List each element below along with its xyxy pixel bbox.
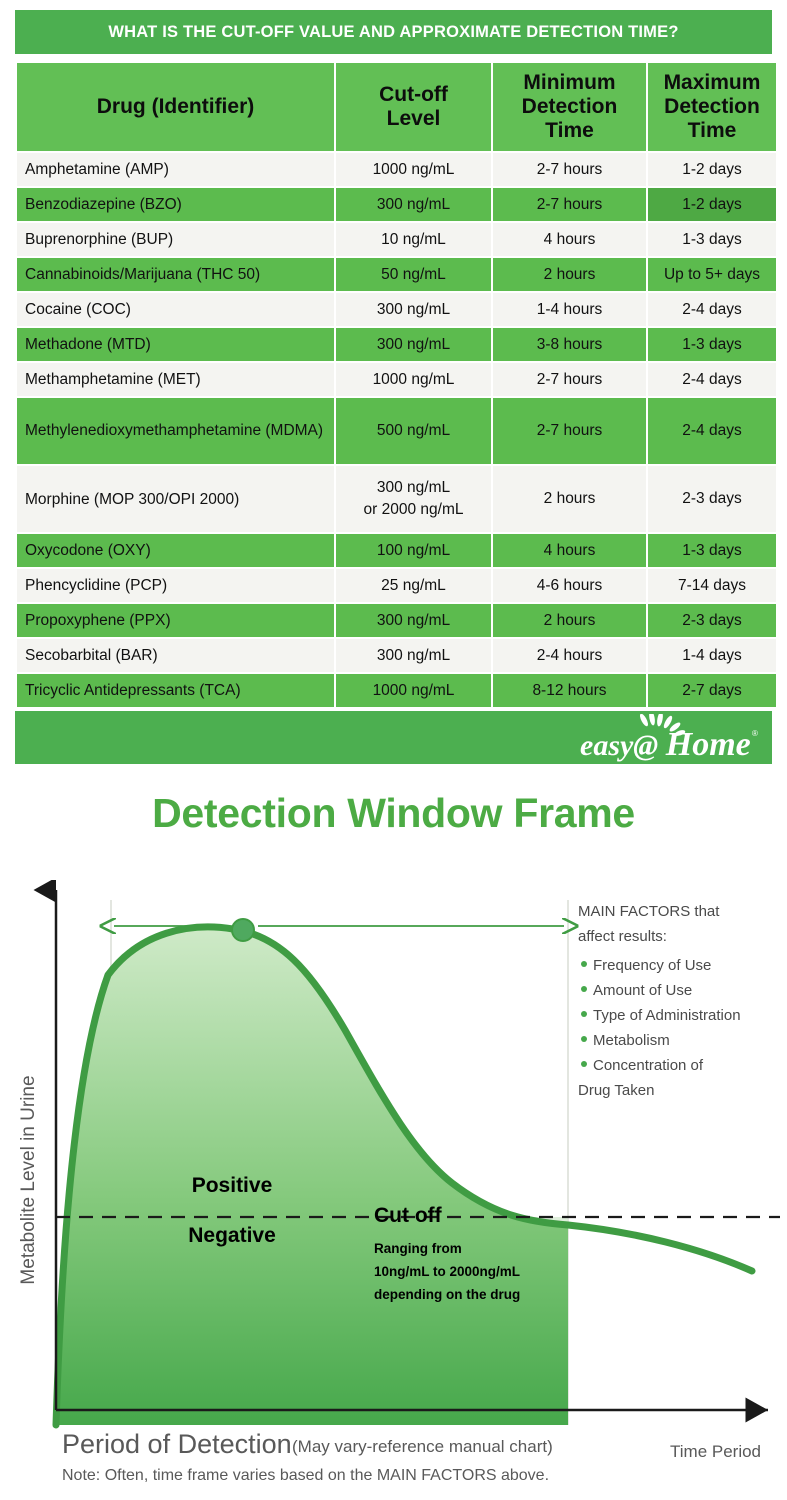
table-row: Oxycodone (OXY)100 ng/mL4 hours1-3 days [17,534,776,567]
cell-max-detection: 1-3 days [648,328,776,361]
table-row: Propoxyphene (PPX)300 ng/mL2 hours2-3 da… [17,604,776,637]
bullet-icon [581,1061,587,1067]
cell-min-detection: 2-4 hours [493,639,646,672]
cell-min-detection: 4-6 hours [493,569,646,602]
cutoff-detection-table: Drug (Identifier) Cut-off Level Minimum … [15,61,778,709]
cell-min-detection: 2-7 hours [493,363,646,396]
cell-drug: Benzodiazepine (BZO) [17,188,334,221]
cutoff-desc-line-2: 10ng/mL to 2000ng/mL [374,1264,520,1279]
cell-min-detection: 3-8 hours [493,328,646,361]
brand-wordmark: easy@ Home [580,726,751,762]
table-row: Benzodiazepine (BZO)300 ng/mL2-7 hours1-… [17,188,776,221]
main-factor-item: Frequency of Use [593,957,711,974]
cell-cutoff: 50 ng/mL [336,258,491,291]
column-header-max-detection: Maximum Detection Time [648,63,776,151]
table-row: Methylenedioxymethamphetamine (MDMA)500 … [17,398,776,464]
header-line: Level [387,107,441,130]
table-row: Buprenorphine (BUP)10 ng/mL4 hours1-3 da… [17,223,776,256]
header-line: Time [545,119,594,142]
main-factor-item: Metabolism [593,1032,670,1049]
cell-max-detection: 2-7 days [648,674,776,707]
cell-max-detection: 1-4 days [648,639,776,672]
cell-max-detection: 2-4 days [648,363,776,396]
cell-drug: Methadone (MTD) [17,328,334,361]
cell-cutoff: 1000 ng/mL [336,674,491,707]
cell-cutoff: 25 ng/mL [336,569,491,602]
x-axis-caption-main: Period of Detection [62,1429,292,1459]
cell-max-detection: Up to 5+ days [648,258,776,291]
table-row: Methamphetamine (MET)1000 ng/mL2-7 hours… [17,363,776,396]
cell-min-detection: 2-7 hours [493,398,646,464]
cell-cutoff: 300 ng/mL [336,604,491,637]
cell-cutoff-line: 300 ng/mL [377,479,450,496]
header-line: Maximum [664,71,761,94]
cell-drug: Methylenedioxymethamphetamine (MDMA) [17,398,334,464]
bullet-icon [581,1011,587,1017]
chart-title: Detection Window Frame [0,790,787,837]
column-header-min-detection: Minimum Detection Time [493,63,646,151]
cell-drug: Cocaine (COC) [17,293,334,326]
cell-max-detection: 2-4 days [648,398,776,464]
negative-region-label: Negative [188,1224,276,1247]
cell-cutoff: 300 ng/mL [336,639,491,672]
cell-cutoff: 500 ng/mL [336,398,491,464]
cell-min-detection: 1-4 hours [493,293,646,326]
cutoff-table-block: WHAT IS THE CUT-OFF VALUE AND APPROXIMAT… [15,10,772,764]
bullet-icon [581,961,587,967]
table-body: Amphetamine (AMP)1000 ng/mL2-7 hours1-2 … [17,153,776,707]
table-row: Phencyclidine (PCP)25 ng/mL4-6 hours7-14… [17,569,776,602]
main-factors-heading-line-1: MAIN FACTORS that [578,903,720,920]
table-row: Amphetamine (AMP)1000 ng/mL2-7 hours1-2 … [17,153,776,186]
table-row: Cannabinoids/Marijuana (THC 50)50 ng/mL2… [17,258,776,291]
main-factor-item: Concentration of [593,1057,704,1074]
cell-drug: Secobarbital (BAR) [17,639,334,672]
easy-at-home-logo: easy@ Home ® [580,714,760,762]
bullet-icon [581,1036,587,1042]
cell-cutoff: 300 ng/mL [336,328,491,361]
cell-drug: Oxycodone (OXY) [17,534,334,567]
cell-drug: Tricyclic Antidepressants (TCA) [17,674,334,707]
cutoff-desc-line-1: Ranging from [374,1241,462,1256]
cell-min-detection: 2 hours [493,466,646,532]
cell-drug: Cannabinoids/Marijuana (THC 50) [17,258,334,291]
registered-mark-icon: ® [752,729,758,738]
cell-drug: Morphine (MOP 300/OPI 2000) [17,466,334,532]
cell-min-detection: 4 hours [493,223,646,256]
cell-max-detection: 2-3 days [648,466,776,532]
table-header-row: Drug (Identifier) Cut-off Level Minimum … [17,63,776,151]
cell-max-detection: 2-4 days [648,293,776,326]
cell-drug: Phencyclidine (PCP) [17,569,334,602]
header-line: Cut-off [379,83,448,106]
cell-cutoff: 10 ng/mL [336,223,491,256]
header-line: Detection [664,95,760,118]
cell-min-detection: 2-7 hours [493,153,646,186]
cell-min-detection: 2 hours [493,604,646,637]
bullet-icon [581,986,587,992]
cell-min-detection: 8-12 hours [493,674,646,707]
column-header-drug: Drug (Identifier) [17,63,334,151]
y-axis-label: Metabolite Level in Urine [18,1075,39,1284]
cell-max-detection: 1-2 days [648,188,776,221]
main-factor-item-continuation: Drug Taken [578,1082,654,1099]
table-title-bar: WHAT IS THE CUT-OFF VALUE AND APPROXIMAT… [15,10,772,54]
cutoff-label: Cut off [374,1204,443,1227]
cell-cutoff-line: or 2000 ng/mL [364,501,464,518]
metabolite-area [56,927,568,1425]
table-row: Cocaine (COC)300 ng/mL1-4 hours2-4 days [17,293,776,326]
cell-max-detection: 7-14 days [648,569,776,602]
cell-cutoff: 300 ng/mLor 2000 ng/mL [336,466,491,532]
cell-cutoff: 100 ng/mL [336,534,491,567]
column-header-cutoff: Cut-off Level [336,63,491,151]
cell-min-detection: 2-7 hours [493,188,646,221]
cell-min-detection: 4 hours [493,534,646,567]
header-line: Detection [522,95,618,118]
cell-max-detection: 1-3 days [648,534,776,567]
brand-bar: easy@ Home ® [15,711,772,764]
cell-min-detection: 2 hours [493,258,646,291]
cell-drug: Amphetamine (AMP) [17,153,334,186]
header-line: Time [688,119,737,142]
main-factor-item: Type of Administration [593,1007,741,1024]
cell-max-detection: 1-3 days [648,223,776,256]
detection-window-chart: Metabolite Level in Urine Positive Negat… [0,880,787,1500]
cell-max-detection: 1-2 days [648,153,776,186]
main-factor-item: Amount of Use [593,982,692,999]
x-axis-caption-sub: (May vary-reference manual chart) [292,1437,553,1456]
table-row: Methadone (MTD)300 ng/mL3-8 hours1-3 day… [17,328,776,361]
positive-region-label: Positive [192,1174,273,1197]
cell-drug: Buprenorphine (BUP) [17,223,334,256]
chart-note: Note: Often, time frame varies based on … [62,1467,549,1484]
cell-drug: Propoxyphene (PPX) [17,604,334,637]
main-factors-heading-line-2: affect results: [578,928,667,945]
cell-cutoff: 300 ng/mL [336,293,491,326]
cell-drug: Methamphetamine (MET) [17,363,334,396]
x-axis-label: Time Period [670,1442,761,1461]
header-line: Drug (Identifier) [97,95,255,118]
table-row: Morphine (MOP 300/OPI 2000)300 ng/mLor 2… [17,466,776,532]
peak-marker-dot [232,919,254,941]
cutoff-desc-line-3: depending on the drug [374,1287,520,1302]
table-row: Tricyclic Antidepressants (TCA)1000 ng/m… [17,674,776,707]
table-row: Secobarbital (BAR)300 ng/mL2-4 hours1-4 … [17,639,776,672]
cell-cutoff: 1000 ng/mL [336,153,491,186]
cell-max-detection: 2-3 days [648,604,776,637]
cell-cutoff: 300 ng/mL [336,188,491,221]
header-line: Minimum [523,71,615,94]
cell-cutoff: 1000 ng/mL [336,363,491,396]
